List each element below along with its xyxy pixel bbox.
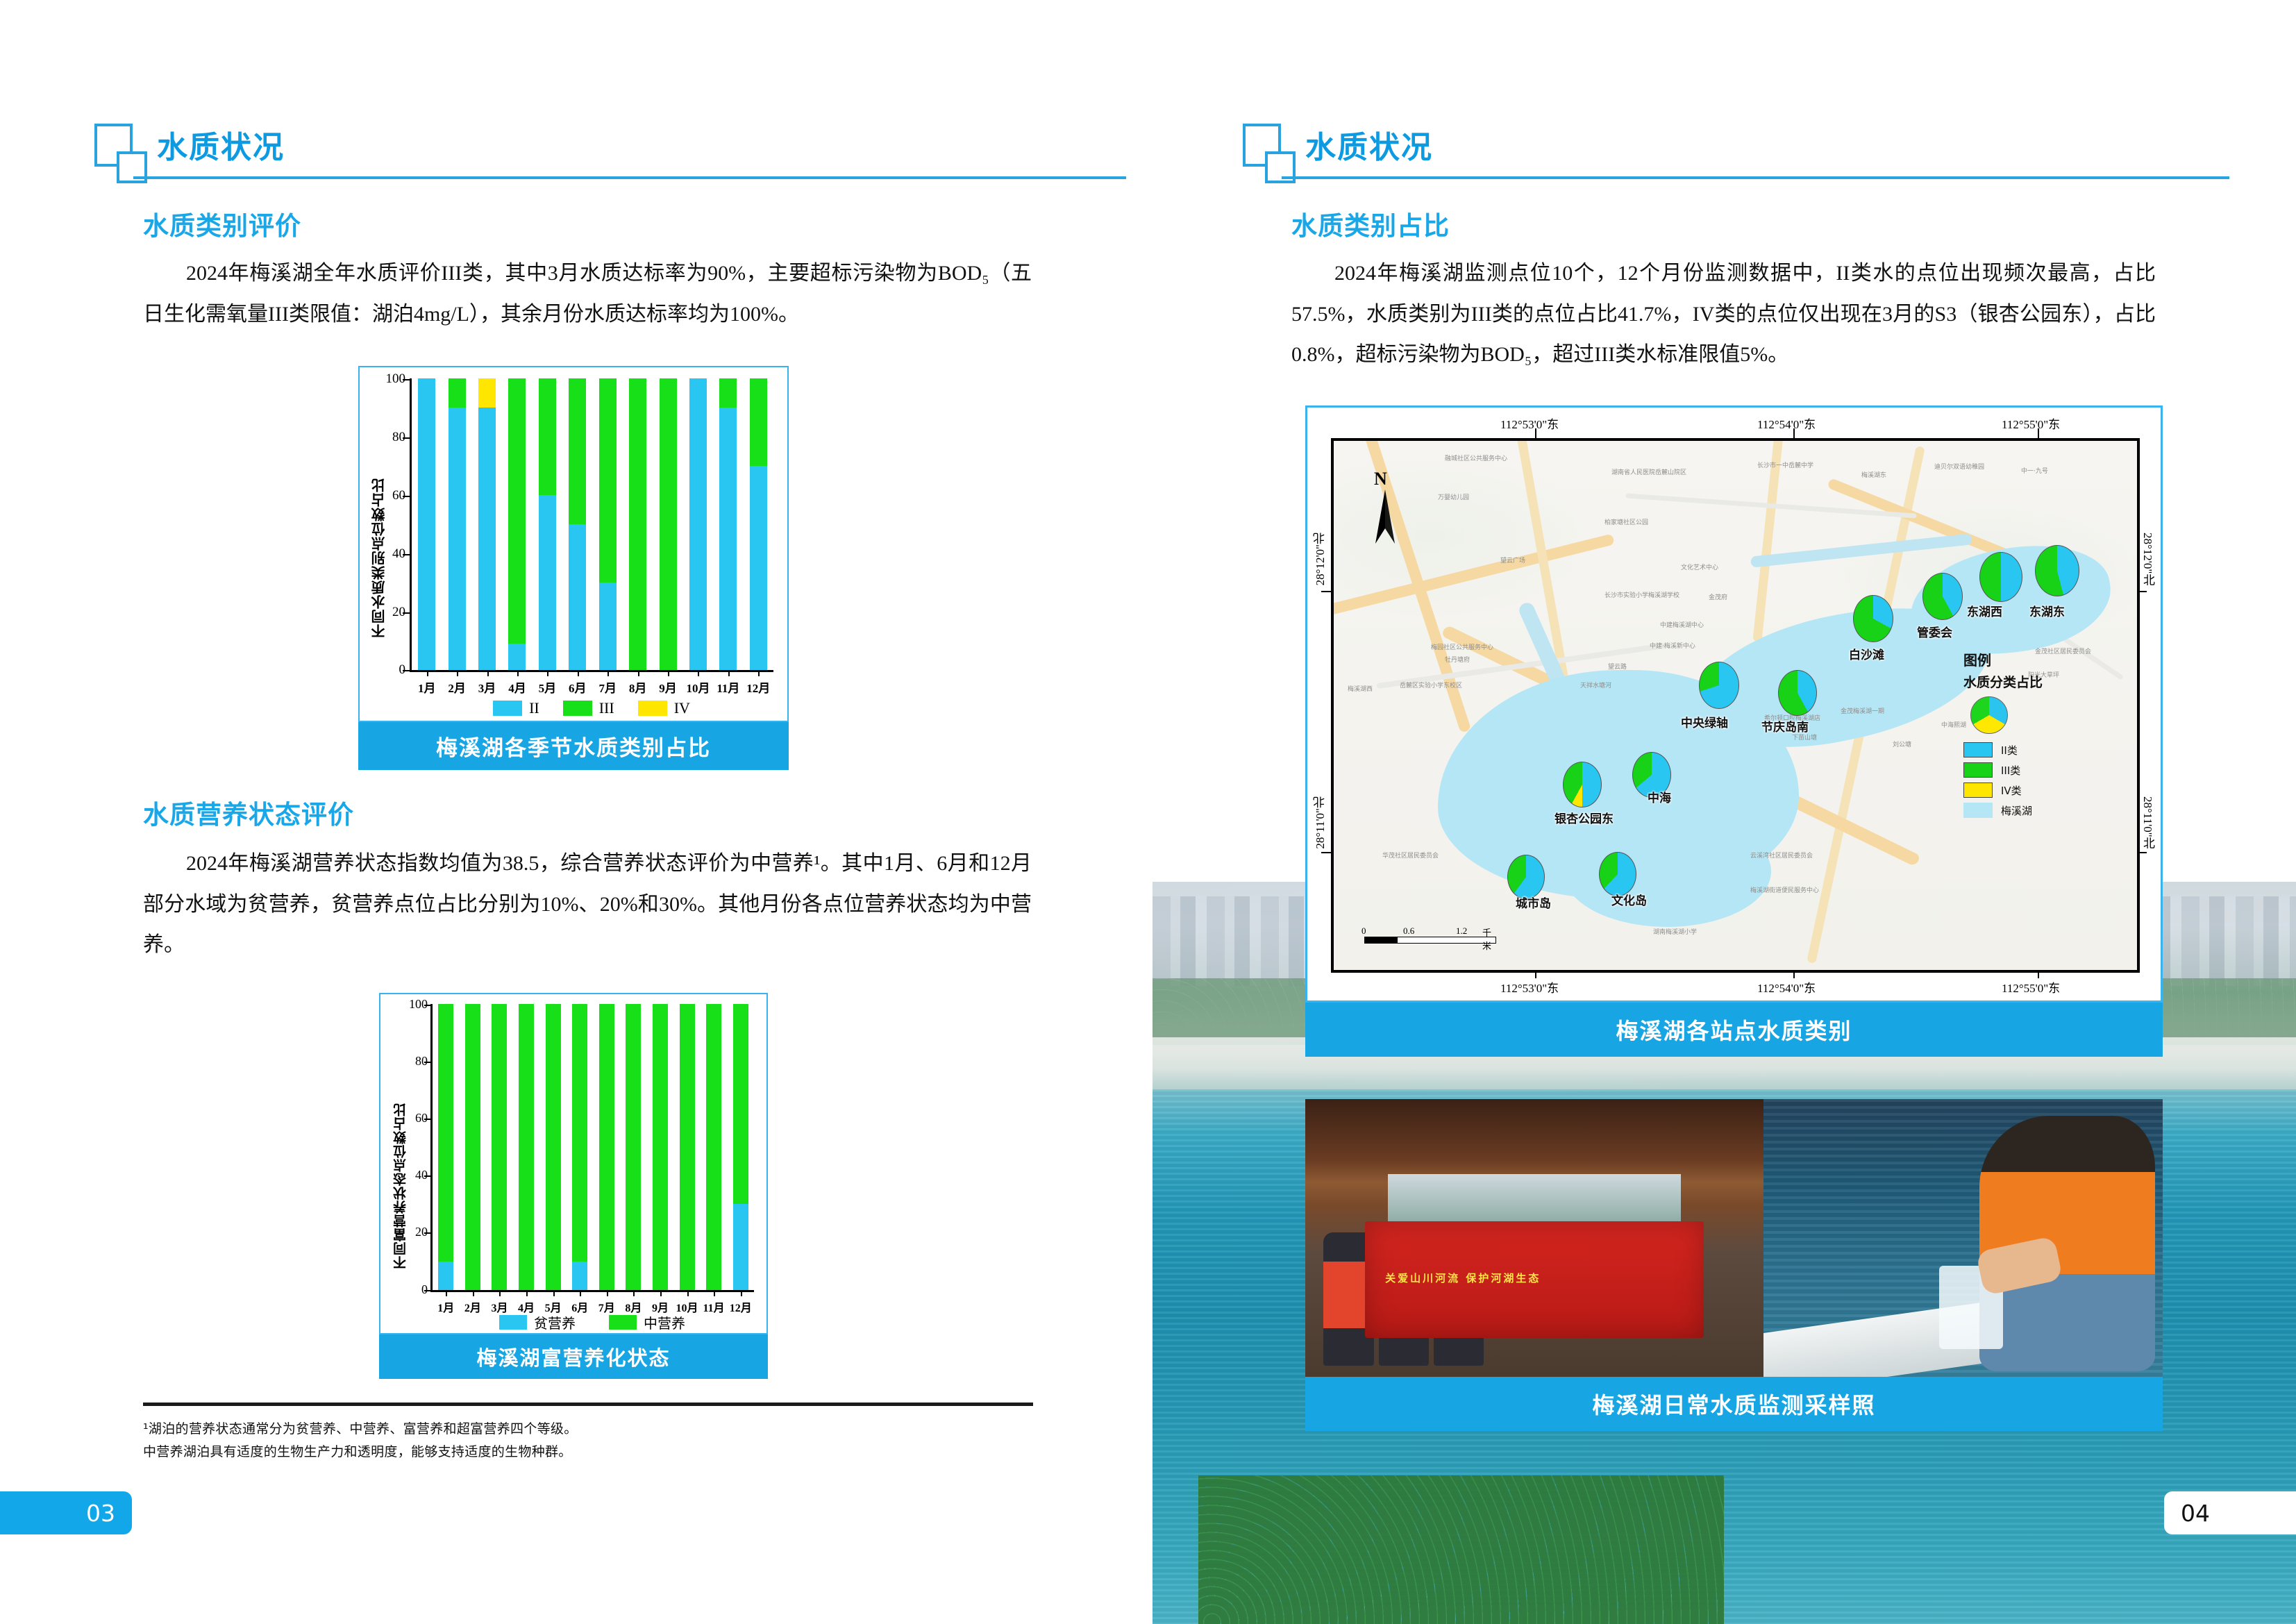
- chart-1-ytickmark: [403, 496, 410, 497]
- chart-2-ytickmark: [424, 1290, 431, 1291]
- chart-panel-2: 不同富营养状态点位数占比 100 80 60 40 20 0 1月2月3月4月5…: [379, 993, 768, 1334]
- map-place-label: 中海熙湖: [1941, 720, 1966, 729]
- footnote-line-2: 中营养湖泊具有适度的生物生产力和透明度，能够支持适度的生物种群。: [143, 1441, 1033, 1464]
- legend-label-lake: 梅溪湖: [2001, 803, 2032, 818]
- station-pie-管委会[interactable]: [1922, 573, 1963, 620]
- map-grid-tick: [1321, 591, 1331, 592]
- header-rule: [133, 176, 1126, 179]
- x-tickmark: [578, 670, 579, 676]
- scale-label-0: 0: [1361, 926, 1366, 937]
- bar-segment-II: [719, 408, 737, 670]
- map-legend-title: 图例: [1963, 649, 2116, 669]
- x-tickmark: [427, 670, 428, 676]
- x-tickmark: [741, 1290, 742, 1296]
- x-tick-12月: 12月: [744, 678, 773, 696]
- chart-1-ytickmark: [403, 612, 410, 614]
- legend-swatch-II: [493, 701, 522, 716]
- map-grid-tick: [2038, 428, 2039, 438]
- map-scale-bar: 0 0.6 1.2 千米: [1364, 926, 1496, 944]
- legend-label-II: II: [529, 699, 539, 717]
- legend-label-class-3: III类: [2001, 763, 2020, 778]
- left-body-paragraph-1: 2024年梅溪湖全年水质评价III类，其中3月水质达标率为90%，主要超标污染物…: [143, 253, 1032, 335]
- x-tickmark: [473, 1290, 474, 1296]
- scale-seg-empty: [1398, 937, 1430, 943]
- bar-segment-II: [599, 583, 617, 670]
- photo-banner-text: 关爱山川河流 保护河湖生态: [1365, 1221, 1704, 1338]
- legend-swatch-贫营养: [499, 1315, 527, 1330]
- scale-label-2: 1.2: [1456, 926, 1467, 937]
- station-pie-城市岛[interactable]: [1507, 855, 1545, 899]
- photo-sampler-person: [1979, 1116, 2155, 1371]
- legend-swatch-class-3: [1963, 762, 1993, 778]
- chart-2-ytick: 80: [400, 1054, 428, 1069]
- legend-label-class-4: IV类: [2001, 783, 2022, 798]
- chart-2-ytickmark: [424, 1119, 431, 1120]
- bar-segment-贫营养: [733, 1204, 748, 1290]
- bar-segment-中营养: [626, 1004, 641, 1290]
- station-pie-东湖西[interactable]: [1979, 552, 2022, 602]
- map-panel: 112°53'0"东 112°54'0"东 112°55'0"东 112°53'…: [1305, 405, 2163, 1003]
- map-place-label: 梅溪湖西: [1348, 684, 1373, 693]
- lake-south-lobe: [1563, 816, 1771, 927]
- station-label-东湖西: 东湖西: [1967, 602, 2002, 619]
- north-arrow-glyph: [1364, 489, 1406, 545]
- station-pie-东湖东[interactable]: [2035, 545, 2079, 596]
- bar-segment-II: [418, 378, 435, 670]
- left-subsection-title-1: 水质类别评价: [143, 205, 301, 242]
- chart-1-ytickmark: [403, 437, 410, 439]
- map-left-coord: 28°11'0"北: [1312, 796, 1329, 849]
- x-tick-3月: 3月: [472, 678, 502, 696]
- bar-segment-III: [629, 378, 646, 670]
- x-tick-1月: 1月: [412, 678, 442, 696]
- x-tickmark: [607, 670, 609, 676]
- x-tickmark: [553, 1290, 555, 1296]
- chart-2-ytickmark: [424, 1005, 431, 1006]
- x-tickmark: [517, 670, 519, 676]
- bar-9月: [653, 1004, 668, 1290]
- bar-segment-II: [539, 495, 556, 670]
- legend-row: IV类: [1963, 782, 2116, 798]
- bar-segment-中营养: [706, 1004, 721, 1290]
- photo-water-sampling: [1763, 1099, 2163, 1377]
- station-pie-银杏公园东[interactable]: [1563, 762, 1602, 807]
- bar-segment-II: [478, 408, 496, 670]
- legend-swatch-lake: [1963, 803, 1993, 818]
- bar-segment-中营养: [546, 1004, 561, 1290]
- x-tickmark: [698, 670, 699, 676]
- station-label-东湖东: 东湖东: [2029, 602, 2065, 619]
- map-place-label: 中一·九号: [2021, 466, 2048, 475]
- north-label: N: [1374, 469, 1387, 489]
- station-pie-中央绿轴[interactable]: [1699, 662, 1739, 709]
- chart-2-ytick: 0: [400, 1282, 428, 1297]
- bar-12月: [733, 1004, 748, 1290]
- station-label-白沙滩: 白沙滩: [1849, 645, 1884, 662]
- map-place-label: 华茂社区居民委员会: [1382, 851, 1439, 860]
- left-header-title: 水质状况: [157, 122, 285, 167]
- bar-5月: [539, 378, 556, 670]
- map-place-label: 万婴幼儿园: [1438, 492, 1469, 501]
- bar-segment-IV: [478, 378, 496, 408]
- map-place-label: 望云广场: [1500, 555, 1525, 564]
- map-place-label: 中建·梅溪新中心: [1650, 641, 1695, 650]
- station-pie-节庆岛南[interactable]: [1778, 670, 1817, 716]
- bar-1月: [438, 1004, 453, 1290]
- map-place-label: 长沙市一中岳麓中学: [1757, 460, 1813, 469]
- map-grid-tick: [1535, 428, 1536, 438]
- bar-segment-III: [750, 378, 767, 466]
- map-place-label: 望云路: [1608, 662, 1627, 671]
- chart-2-ytickmark: [424, 1175, 431, 1177]
- bar-segment-III: [719, 378, 737, 408]
- chart-2-ytick: 40: [400, 1168, 428, 1182]
- map-place-label: 柏家塘社区公园: [1604, 517, 1648, 526]
- map-place-label: 云溪湾社区居民委员会: [1750, 851, 1813, 860]
- right-page-number: 04: [2164, 1491, 2296, 1534]
- bar-8月: [626, 1004, 641, 1290]
- bar-segment-中营养: [733, 1004, 748, 1204]
- figure-water-quality-category: 不同水质类别点位数占比 100 80 60 40 20 0 1月2月3月4月5月…: [358, 366, 789, 770]
- legend-swatch-中营养: [609, 1315, 637, 1330]
- x-tickmark: [547, 670, 548, 676]
- x-tick-10月: 10月: [683, 678, 713, 696]
- scale-seg-filled: [1365, 937, 1398, 943]
- x-tickmark: [633, 1290, 635, 1296]
- chart-1-ytick: 60: [378, 488, 405, 503]
- bar-segment-II: [569, 524, 586, 670]
- x-tick-4月: 4月: [502, 678, 532, 696]
- map-top-coord: 112°53'0"东: [1500, 415, 1559, 432]
- bar-3月: [492, 1004, 507, 1290]
- station-label-节庆岛南: 节庆岛南: [1761, 717, 1809, 735]
- bar-12月: [750, 378, 767, 670]
- chart-1-ytick: 0: [378, 662, 405, 678]
- photo-caption: 梅溪湖日常水质监测采样照: [1305, 1377, 2163, 1431]
- bar-segment-中营养: [599, 1004, 614, 1290]
- legend-label-贫营养: 贫营养: [534, 1312, 576, 1332]
- x-tickmark: [668, 670, 669, 676]
- chart-panel-1: 不同水质类别点位数占比 100 80 60 40 20 0 1月2月3月4月5月…: [358, 366, 789, 722]
- bar-segment-III: [660, 378, 677, 670]
- chart-1-ytickmark: [403, 670, 410, 671]
- legend-label-中营养: 中营养: [644, 1312, 685, 1332]
- bar-9月: [660, 378, 677, 670]
- left-body-paragraph-2: 2024年梅溪湖营养状态指数均值为38.5，综合营养状态评价为中营养¹。其中1月…: [143, 844, 1032, 966]
- bar-segment-中营养: [438, 1004, 453, 1262]
- chart-2-y-axis: [430, 1004, 433, 1290]
- map-place-label: 梅溪湖街道便民服务中心: [1750, 885, 1819, 894]
- station-pie-白沙滩[interactable]: [1853, 595, 1893, 642]
- chart-1-legend: IIIIIIV: [410, 698, 773, 719]
- figure-station-water-quality-map: 112°53'0"东 112°54'0"东 112°55'0"东 112°53'…: [1305, 405, 2163, 1057]
- chart-1-y-axis: [410, 378, 412, 670]
- bar-segment-中营养: [653, 1004, 668, 1290]
- bar-3月: [478, 378, 496, 670]
- bar-segment-贫营养: [438, 1262, 453, 1290]
- legend-row: III类: [1963, 762, 2116, 778]
- x-tick-7月: 7月: [593, 678, 623, 696]
- chart-1-ytickmark: [403, 554, 410, 555]
- bar-segment-III: [569, 378, 586, 524]
- legend-item-贫营养: 贫营养: [499, 1312, 576, 1332]
- bar-6月: [569, 378, 586, 670]
- station-label-中海: 中海: [1648, 788, 1671, 805]
- bar-segment-II: [508, 644, 526, 670]
- map-place-label: 文化艺术中心: [1681, 562, 1718, 571]
- scale-label-1: 0.6: [1403, 926, 1414, 937]
- x-tickmark: [446, 1290, 447, 1296]
- bar-6月: [572, 1004, 587, 1290]
- chart-1-ytick: 40: [378, 546, 405, 562]
- bar-segment-III: [599, 378, 617, 583]
- x-tick-11月: 11月: [713, 678, 743, 696]
- x-tickmark: [457, 670, 458, 676]
- bar-7月: [599, 378, 617, 670]
- chart-2-ytick: 20: [400, 1225, 428, 1239]
- legend-label-IV: IV: [674, 699, 690, 717]
- x-tickmark: [687, 1290, 689, 1296]
- bar-segment-中营养: [492, 1004, 507, 1290]
- figure-trophic-status: 不同富营养状态点位数占比 100 80 60 40 20 0 1月2月3月4月5…: [379, 993, 768, 1379]
- bar-segment-贫营养: [572, 1262, 587, 1290]
- map-bottom-coord: 112°53'0"东: [1500, 978, 1559, 996]
- map-place-label: 牡丹塘府: [1445, 655, 1470, 664]
- map-place-label: 迪贝尔双语幼稚园: [1934, 462, 1984, 471]
- figure-2-caption: 梅溪湖富营养化状态: [379, 1334, 768, 1379]
- map-bottom-coord: 112°54'0"东: [1757, 978, 1816, 996]
- map-grid-tick: [1321, 852, 1331, 853]
- scale-unit-label: 千米: [1482, 926, 1496, 952]
- map-grid-tick: [1793, 428, 1795, 438]
- map-place-label: 金茂梅溪湖一期: [1841, 706, 1884, 715]
- chart-2-ytick: 100: [400, 997, 428, 1012]
- bar-8月: [629, 378, 646, 670]
- x-tickmark: [580, 1290, 581, 1296]
- map-place-label: 长沙市实验小学梅溪湖学校: [1604, 590, 1679, 599]
- bar-7月: [599, 1004, 614, 1290]
- x-tick-2月: 2月: [442, 678, 471, 696]
- header-rule: [1282, 176, 2229, 179]
- bar-segment-II: [449, 408, 466, 670]
- chart-1-x-axis: [410, 670, 773, 672]
- map-place-label: 梅园社区公共服务中心: [1431, 642, 1493, 651]
- bar-segment-III: [449, 378, 466, 408]
- map-left-coord: 28°12'0"北: [1312, 533, 1329, 585]
- right-body-paragraph: 2024年梅溪湖监测点位10个，12个月份监测数据中，II类水的点位出现频次最高…: [1291, 253, 2156, 376]
- map-top-coord: 112°55'0"东: [2002, 415, 2060, 432]
- legend-item-IV: IV: [638, 699, 690, 717]
- map-canvas[interactable]: N 融城社区公共服务中心 万婴幼儿园 湖南省人民医院岳麓山院区 长沙市一中岳麓中…: [1331, 438, 2140, 973]
- bar-2月: [465, 1004, 480, 1290]
- station-label-管委会: 管委会: [1917, 623, 1952, 640]
- bar-1月: [418, 378, 435, 670]
- x-tick-5月: 5月: [533, 678, 562, 696]
- chart-1-plot: 不同水质类别点位数占比 100 80 60 40 20 0 1月2月3月4月5月…: [360, 367, 789, 722]
- x-tickmark: [714, 1290, 715, 1296]
- legend-label-III: III: [599, 699, 614, 717]
- station-pie-文化岛[interactable]: [1599, 852, 1636, 896]
- figure-1-caption: 梅溪湖各季节水质类别占比: [358, 722, 789, 770]
- chart-2-ytick: 60: [400, 1111, 428, 1125]
- figure-sampling-photos: 关爱山川河流 保护河湖生态 梅溪湖日常水质监测采样照: [1305, 1099, 2163, 1431]
- bar-11月: [706, 1004, 721, 1290]
- x-tickmark: [660, 1290, 662, 1296]
- map-legend-subtitle: 水质分类占比: [1963, 672, 2116, 691]
- x-tickmark: [758, 670, 760, 676]
- left-page-number: 03: [0, 1491, 132, 1534]
- legend-pie-sample-icon: [1970, 696, 2008, 734]
- map-place-label: 湖南省人民医院岳麓山院区: [1611, 467, 1686, 476]
- legend-row: II类: [1963, 742, 2116, 757]
- legend-swatch-IV: [638, 701, 667, 716]
- bar-4月: [519, 1004, 534, 1290]
- legend-swatch-class-2: [1963, 742, 1993, 757]
- x-tick-8月: 8月: [623, 678, 653, 696]
- bar-segment-III: [508, 378, 526, 644]
- legend-item-中营养: 中营养: [609, 1312, 685, 1332]
- right-subsection-title: 水质类别占比: [1291, 205, 1450, 242]
- x-tickmark: [499, 1290, 501, 1296]
- map-place-label: 天祥水塘河: [1580, 680, 1611, 689]
- right-header-title: 水质状况: [1305, 122, 1433, 167]
- footnote-block: ¹湖泊的营养状态通常分为贫营养、中营养、富营养和超富营养四个等级。 中营养湖泊具…: [143, 1418, 1033, 1464]
- bar-2月: [449, 378, 466, 670]
- map-right-coord: 28°12'0"北: [2139, 533, 2156, 585]
- bar-10月: [680, 1004, 695, 1290]
- legend-swatch-class-4: [1963, 782, 1993, 798]
- legend-row: 梅溪湖: [1963, 803, 2116, 818]
- photo-red-banner: 关爱山川河流 保护河湖生态: [1365, 1221, 1704, 1338]
- scale-numbers: 0 0.6 1.2 千米: [1364, 926, 1496, 937]
- map-bottom-coord: 112°55'0"东: [2002, 978, 2060, 996]
- chart-2-ytickmark: [424, 1232, 431, 1234]
- chart-1-ytick: 20: [378, 605, 405, 620]
- left-page: 水质状况 水质类别评价 2024年梅溪湖全年水质评价III类，其中3月水质达标率…: [0, 0, 1148, 1624]
- bar-segment-中营养: [572, 1004, 587, 1262]
- footnote-line-1: ¹湖泊的营养状态通常分为贫营养、中营养、富营养和超富营养四个等级。: [143, 1418, 1033, 1441]
- x-tickmark: [728, 670, 730, 676]
- bar-10月: [689, 378, 707, 670]
- chart-2-plot: 不同富营养状态点位数占比 100 80 60 40 20 0 1月2月3月4月5…: [380, 994, 768, 1334]
- chart-1-ytick: 100: [378, 371, 405, 387]
- station-label-银杏公园东: 银杏公园东: [1555, 809, 1614, 826]
- x-tickmark: [526, 1290, 528, 1296]
- map-place-label: 中建梅溪湖中心: [1660, 620, 1704, 629]
- map-place-label: 湖南梅溪湖小学: [1653, 927, 1697, 936]
- map-place-label: 刘公塘: [1893, 739, 1911, 748]
- map-place-label: 金茂府: [1709, 592, 1727, 601]
- legend-item-II: II: [493, 699, 539, 717]
- x-tick-6月: 6月: [562, 678, 592, 696]
- map-legend: 图例 水质分类占比 II类 III类 IV类 梅溪湖: [1963, 649, 2116, 823]
- map-place-label: 岳麓区实验小学东校区: [1400, 680, 1462, 689]
- chart-2-x-axis: [430, 1290, 754, 1292]
- x-tickmark: [607, 1290, 608, 1296]
- station-label-中央绿轴: 中央绿轴: [1681, 713, 1728, 730]
- legend-label-class-2: II类: [2001, 743, 2018, 757]
- map-place-label: 融城社区公共服务中心: [1445, 453, 1507, 462]
- x-tickmark: [487, 670, 489, 676]
- photo-boat-team: 关爱山川河流 保护河湖生态: [1305, 1099, 1763, 1377]
- bar-segment-III: [539, 378, 556, 495]
- x-tickmark: [638, 670, 639, 676]
- footnote-divider: [143, 1403, 1033, 1406]
- chart-1-ytickmark: [403, 379, 410, 380]
- map-caption: 梅溪湖各站点水质类别: [1305, 1003, 2163, 1057]
- left-subsection-title-2: 水质营养状态评价: [143, 794, 354, 831]
- legend-item-III: III: [563, 699, 614, 717]
- station-label-文化岛: 文化岛: [1611, 891, 1647, 908]
- north-arrow-icon: N: [1364, 469, 1406, 545]
- bar-segment-中营养: [465, 1004, 480, 1290]
- chart-2-ytickmark: [424, 1062, 431, 1063]
- chart-1-ytick: 80: [378, 430, 405, 445]
- map-place-label: 梅溪湖东: [1861, 470, 1886, 479]
- map-right-coord: 28°11'0"北: [2139, 796, 2156, 849]
- bar-segment-II: [689, 378, 707, 670]
- scale-bar-segments: [1364, 937, 1496, 944]
- station-label-城市岛: 城市岛: [1516, 894, 1551, 911]
- bar-segment-中营养: [519, 1004, 534, 1290]
- bar-segment-中营养: [680, 1004, 695, 1290]
- x-tick-9月: 9月: [653, 678, 682, 696]
- chart-2-legend: 贫营养中营养: [430, 1312, 754, 1332]
- bar-5月: [546, 1004, 561, 1290]
- photo-row: 关爱山川河流 保护河湖生态: [1305, 1099, 2163, 1377]
- bar-11月: [719, 378, 737, 670]
- bar-segment-II: [750, 466, 767, 670]
- legend-swatch-III: [563, 701, 592, 716]
- map-top-coord: 112°54'0"东: [1757, 415, 1816, 432]
- bar-4月: [508, 378, 526, 670]
